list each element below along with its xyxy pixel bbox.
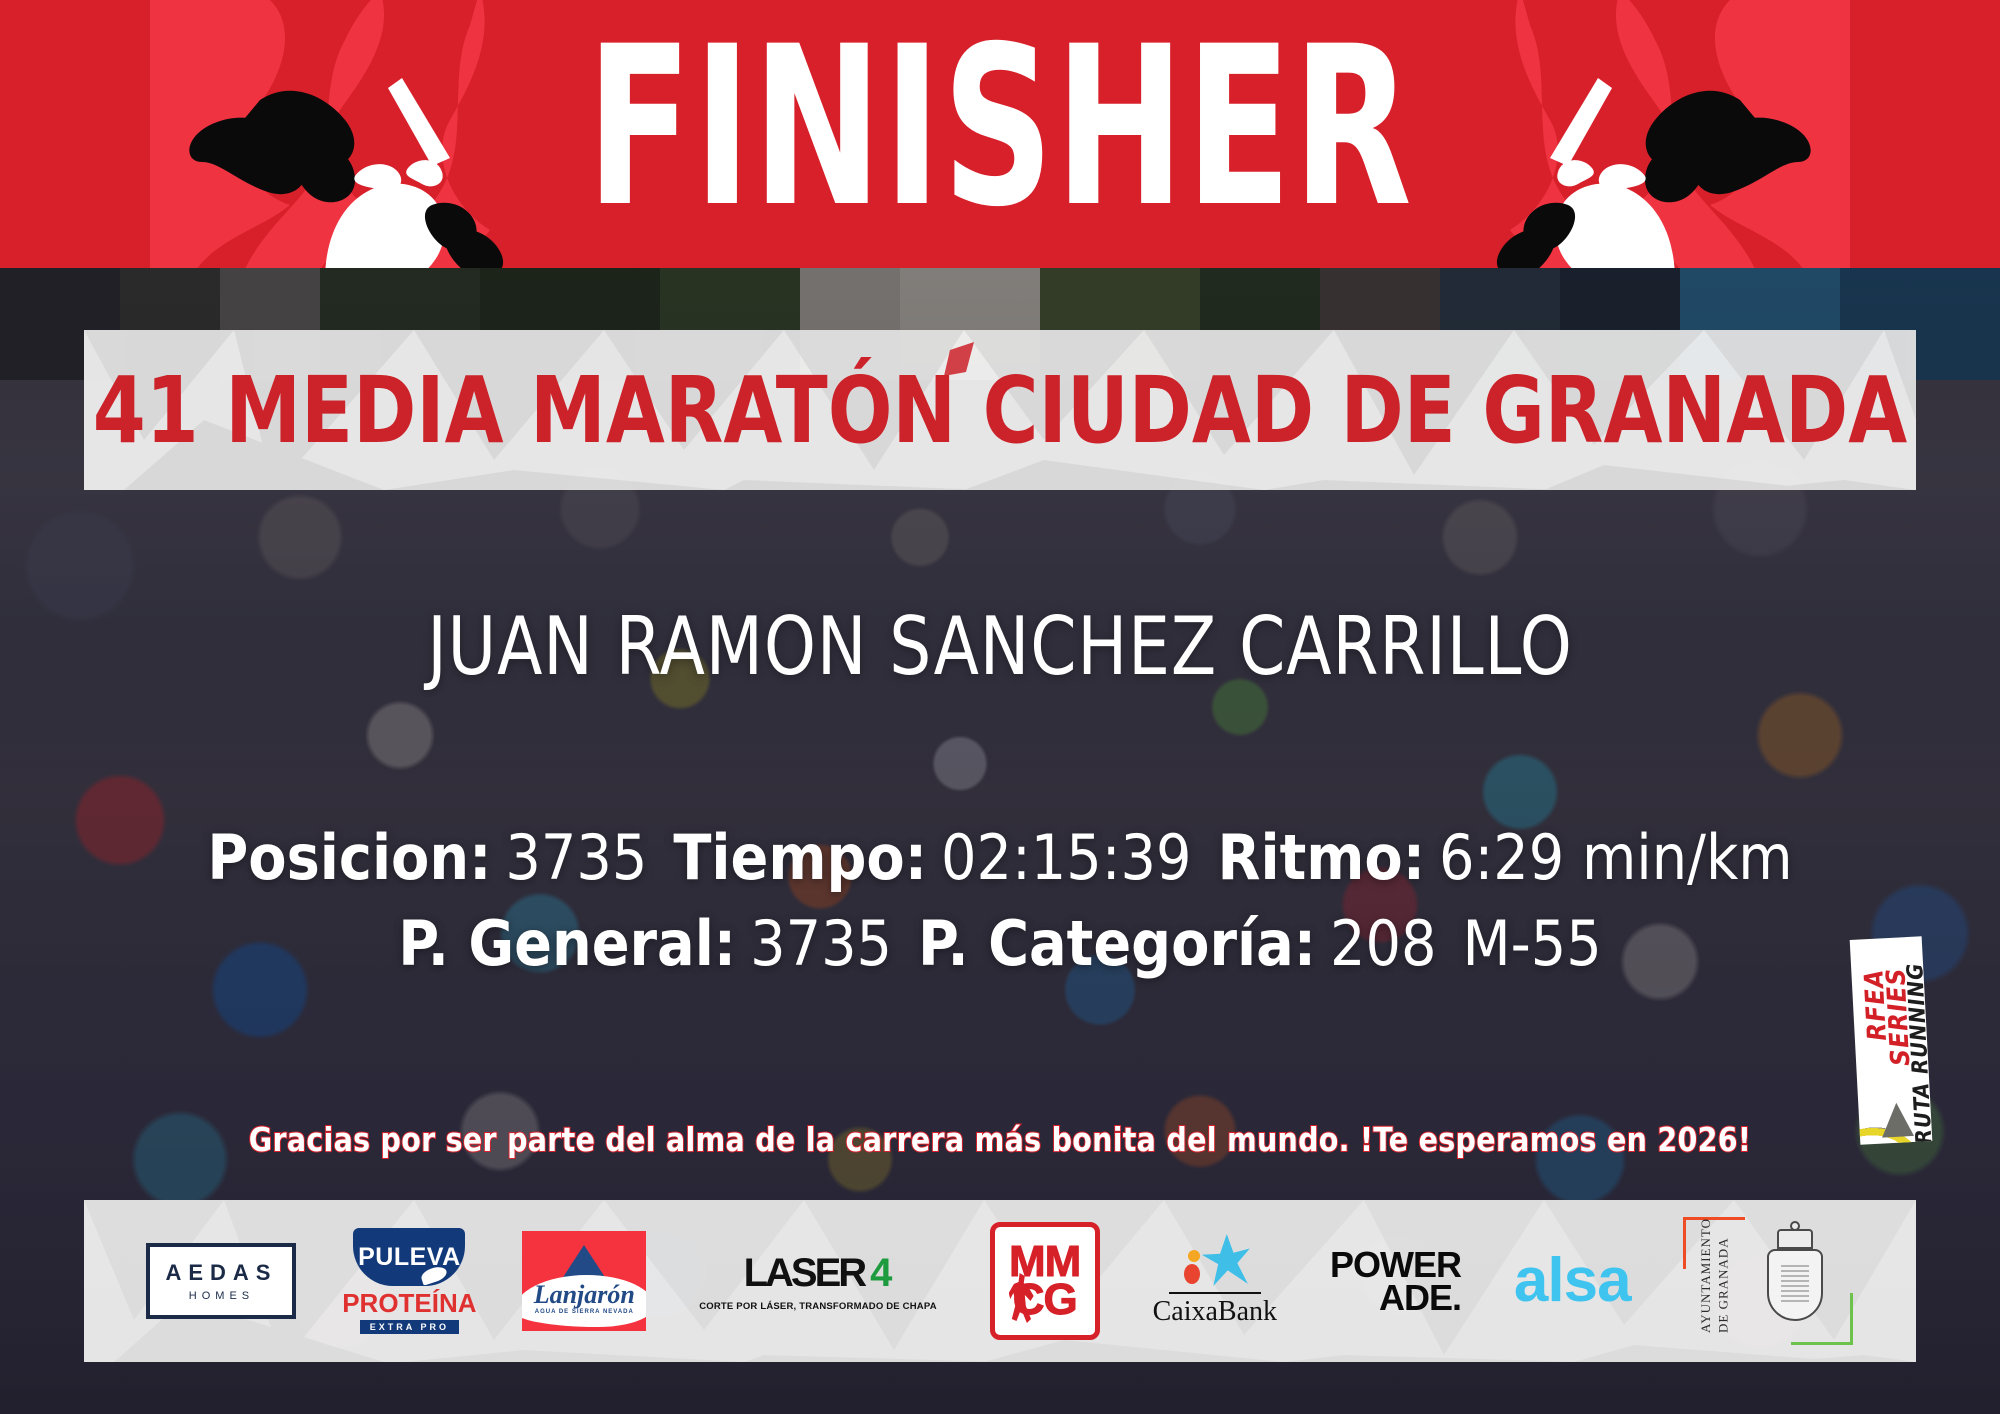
ayuntamiento-label: AYUNTAMIENTODE GRANADA: [1697, 1231, 1732, 1333]
caixabank-rule: [1169, 1292, 1261, 1294]
results-block: Posicion:3735Tiempo:02:15:39Ritmo:6:29 m…: [0, 815, 2000, 986]
alsa-wordmark: alsa: [1514, 1250, 1631, 1312]
laser-wordmark: LASER: [744, 1251, 865, 1296]
powerade-line-2: ADE.: [1379, 1281, 1461, 1314]
category-value: M-55: [1462, 907, 1601, 980]
tiempo-value: 02:15:39: [941, 821, 1191, 894]
runner-name: JUAN RAMON SANCHEZ CARRILLO: [80, 600, 1920, 693]
p-general-label: P. General:: [398, 907, 736, 980]
race-title: 41 MEDIA MARATÓN CIUDAD DE GRANADA: [157, 330, 1842, 490]
header-banner: FINISHER: [0, 0, 2000, 268]
sponsor-mmcg[interactable]: MM CG: [990, 1222, 1100, 1340]
posicion-value: 3735: [505, 821, 647, 894]
thank-you-tagline: Gracias por ser parte del alma de la car…: [40, 1120, 1960, 1159]
finisher-certificate: FINISHER: [0, 0, 2000, 1414]
aedas-subtitle: HOMES: [189, 1290, 254, 1302]
lanjaron-subtitle: AGUA DE SIERRA NEVADA: [522, 1309, 646, 1315]
laser-four-numeral: 4: [870, 1251, 892, 1296]
laser-subtitle: CORTE POR LÁSER, TRANSFORMADO DE CHAPA: [699, 1301, 937, 1312]
posicion-label: Posicion:: [207, 821, 491, 894]
finisher-title: FINISHER: [220, 0, 1780, 268]
sponsor-puleva[interactable]: PULEVA PROTEÍNA EXTRA PRO: [349, 1228, 469, 1334]
caixabank-wordmark: CaixaBank: [1153, 1296, 1277, 1328]
sponsor-lanjaron[interactable]: Lanjarón AGUA DE SIERRA NEVADA: [522, 1231, 646, 1331]
puleva-shield-icon: PULEVA: [353, 1228, 465, 1286]
ritmo-value: 6:29 min/km: [1439, 821, 1793, 894]
p-general-value: 3735: [750, 907, 892, 980]
rfea-series-badge: RFEA SERIES RUTA RUNNING: [1850, 936, 1933, 1144]
results-row-2: P. General:3735P. Categoría:208M-55: [0, 901, 2000, 987]
results-row-1: Posicion:3735Tiempo:02:15:39Ritmo:6:29 m…: [0, 815, 2000, 901]
sponsor-alsa[interactable]: alsa: [1514, 1250, 1631, 1312]
lanjaron-wordmark: Lanjarón: [534, 1280, 635, 1310]
sponsor-ayuntamiento-granada[interactable]: AYUNTAMIENTODE GRANADA: [1683, 1217, 1853, 1345]
sponsor-aedas-homes[interactable]: AEDAS HOMES: [146, 1243, 296, 1319]
sponsor-laser4[interactable]: LASER 4 CORTE POR LÁSER, TRANSFORMADO DE…: [699, 1251, 937, 1312]
granada-coat-of-arms-icon: [1757, 1225, 1833, 1335]
sponsor-caixabank[interactable]: CaixaBank: [1153, 1234, 1277, 1328]
race-title-band: 41 MEDIA MARATÓN CIUDAD DE GRANADA: [84, 330, 1916, 490]
p-categoria-label: P. Categoría:: [918, 907, 1316, 980]
sponsor-powerade[interactable]: POWER ADE.: [1330, 1248, 1461, 1314]
aedas-wordmark: AEDAS: [165, 1260, 277, 1286]
sponsor-bar: AEDAS HOMES PULEVA PROTEÍNA EXTRA PRO La…: [84, 1200, 1916, 1362]
p-categoria-value: 208: [1330, 907, 1436, 980]
puleva-wordmark: PULEVA: [358, 1243, 461, 1272]
puleva-extra-pro-label: EXTRA PRO: [360, 1320, 459, 1334]
caixabank-star-icon: [1180, 1234, 1250, 1290]
ritmo-label: Ritmo:: [1218, 821, 1426, 894]
tiempo-label: Tiempo:: [673, 821, 927, 894]
puleva-proteina-label: PROTEÍNA: [342, 1288, 476, 1319]
